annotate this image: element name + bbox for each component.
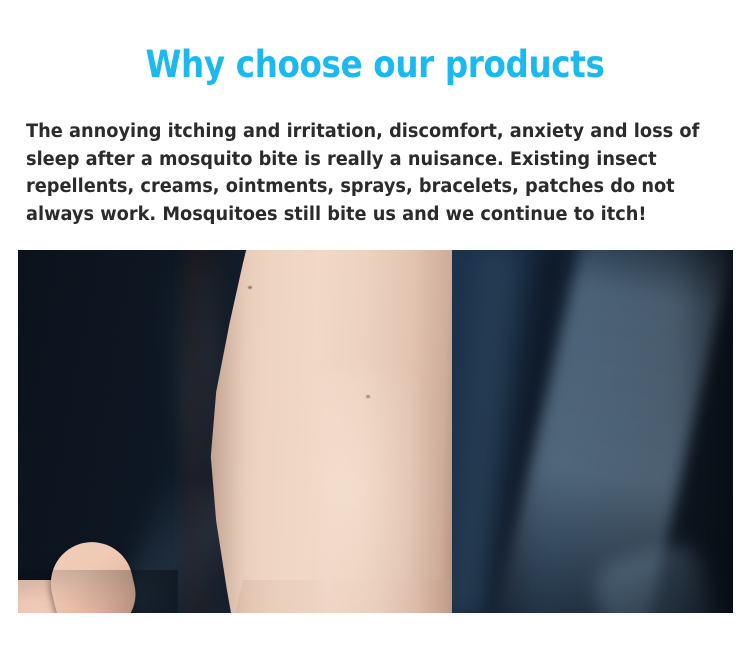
paragraph-line: sleep after a mosquito bite is really a … [26, 146, 688, 174]
product-photo [18, 250, 733, 613]
paragraph-line: repellents, creams, ointments, sprays, b… [26, 173, 688, 201]
page-title: Why choose our products [45, 43, 705, 87]
intro-paragraph: The annoying itching and irritation, dis… [26, 118, 688, 228]
paragraph-line: always work. Mosquitoes still bite us an… [26, 201, 688, 229]
skin-mark [248, 286, 252, 289]
paragraph-line: The annoying itching and irritation, dis… [26, 118, 688, 146]
arm-highlight [318, 370, 438, 613]
